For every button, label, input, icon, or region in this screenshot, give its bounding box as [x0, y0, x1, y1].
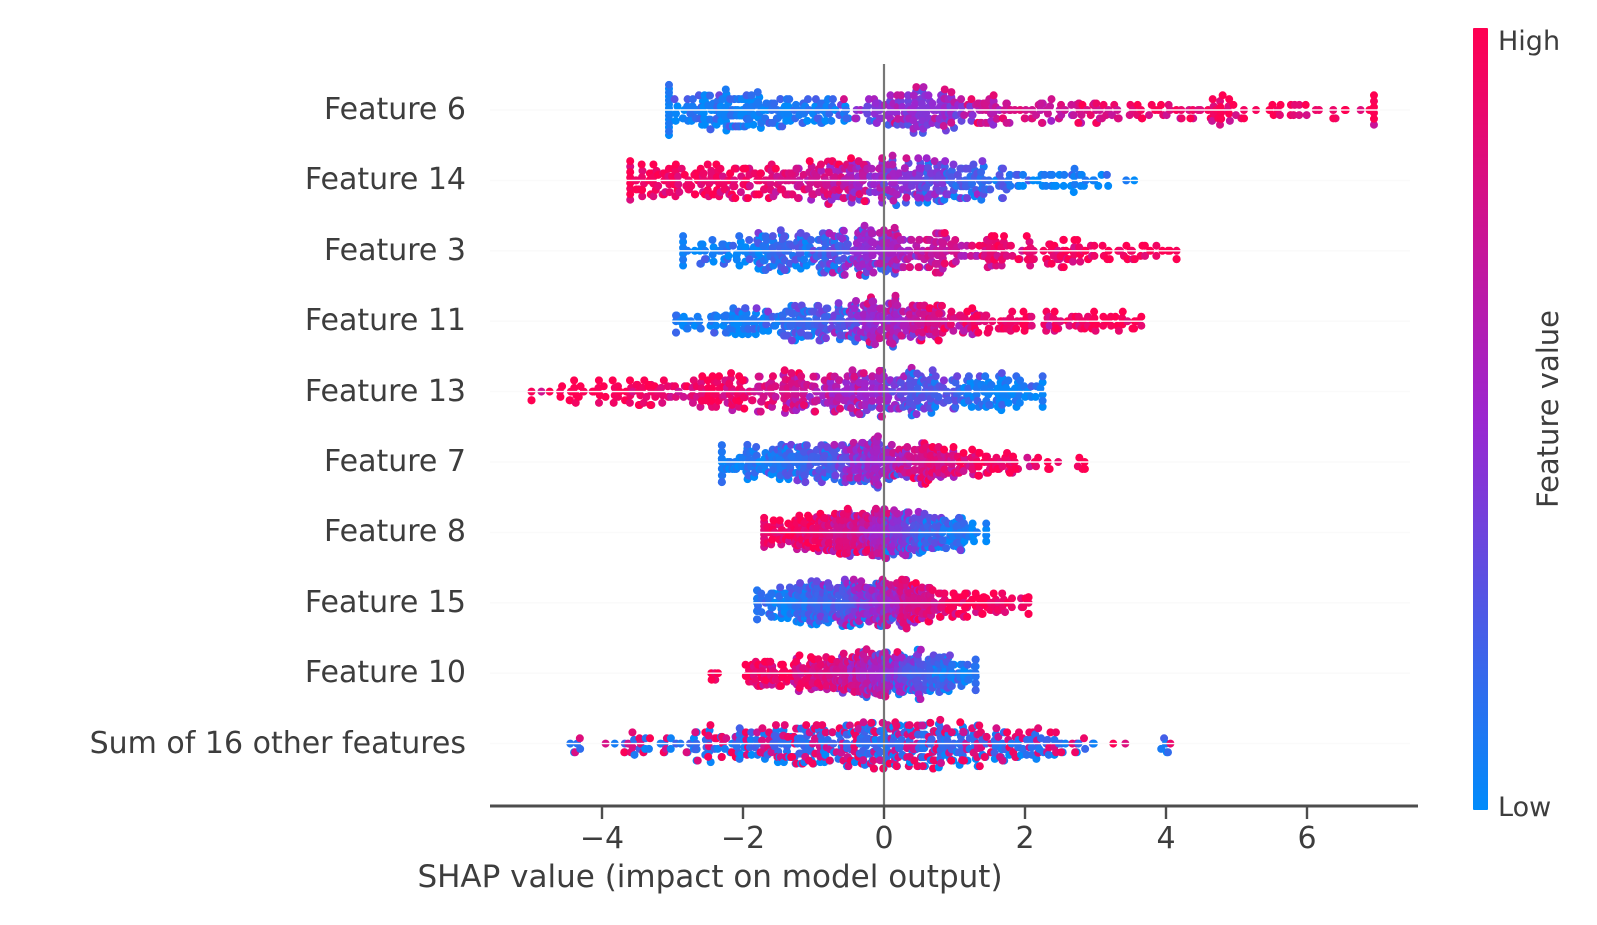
- shap-beeswarm-plot: Feature 6Feature 14Feature 3Feature 11Fe…: [0, 0, 1597, 925]
